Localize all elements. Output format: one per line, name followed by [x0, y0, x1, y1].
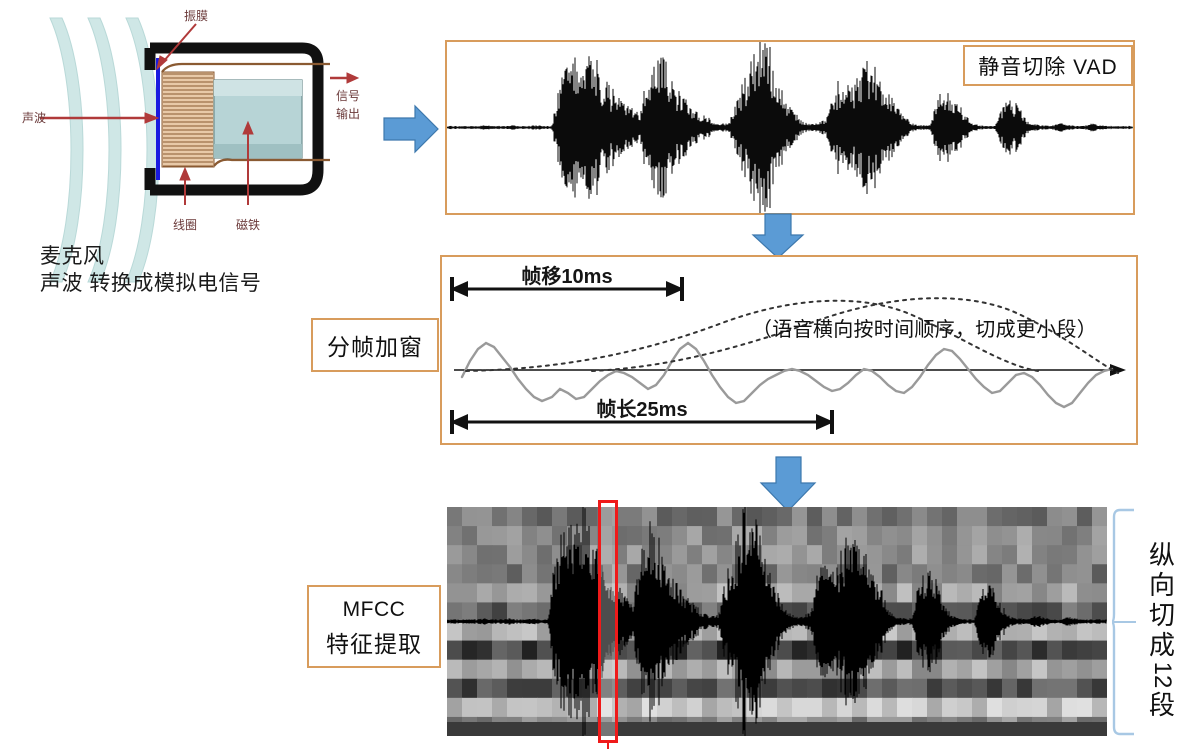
- spectrogram-cell: [447, 583, 463, 603]
- spectrogram-cell: [1002, 545, 1018, 565]
- label-coil: 线圈: [173, 218, 197, 232]
- spectrogram-cell: [672, 679, 688, 699]
- spectrogram-cell: [1032, 698, 1048, 718]
- spectrogram-cell: [447, 507, 463, 527]
- spectrogram-cell: [792, 679, 808, 699]
- spectrogram-bottom-strip: [447, 722, 1107, 736]
- spectrogram-cell: [522, 622, 538, 642]
- spectrogram-cell: [1092, 641, 1107, 661]
- spectrogram-cell: [867, 698, 883, 718]
- spectrogram-cell: [522, 660, 538, 680]
- spectrogram-cell: [852, 698, 868, 718]
- spectrogram-cell: [1002, 698, 1018, 718]
- spectrogram-cell: [942, 564, 958, 584]
- spectrogram-cell: [882, 545, 898, 565]
- spectrogram-cell: [582, 507, 598, 527]
- spectrogram-cell: [702, 507, 718, 527]
- spectrogram-cell: [1062, 545, 1078, 565]
- spectrogram-cell: [1062, 641, 1078, 661]
- spectrogram-cell: [462, 545, 478, 565]
- spectrogram-cell: [492, 679, 508, 699]
- spectrogram-cell: [672, 564, 688, 584]
- spectrogram-cell: [627, 679, 643, 699]
- spectrogram-cell: [1047, 698, 1063, 718]
- spectrogram-cell: [777, 660, 793, 680]
- label-diaphragm: 振膜: [184, 9, 208, 23]
- spectrogram-cell: [702, 679, 718, 699]
- spectrogram-cell: [987, 526, 1003, 546]
- spectrogram-cell: [627, 698, 643, 718]
- spectrogram-cell: [1077, 583, 1093, 603]
- spectrogram-cell: [882, 526, 898, 546]
- spectrogram-cell: [822, 698, 838, 718]
- spectrogram-cell: [687, 641, 703, 661]
- spectrogram-cell: [1077, 545, 1093, 565]
- spectrogram-cell: [1032, 545, 1048, 565]
- spectrogram-cell: [867, 679, 883, 699]
- spectrogram-cell: [792, 507, 808, 527]
- spectrogram-cell: [447, 679, 463, 699]
- spectrogram-cell: [1017, 660, 1033, 680]
- spectrogram-cell: [537, 545, 553, 565]
- spectrogram-cell: [792, 641, 808, 661]
- spectrogram-cell: [567, 507, 583, 527]
- spectrogram-cell: [552, 526, 568, 546]
- spectrogram-cell: [792, 545, 808, 565]
- spectrogram-cell: [1077, 698, 1093, 718]
- spectrogram-cell: [882, 564, 898, 584]
- spectrogram-cell: [492, 660, 508, 680]
- spectrogram-cell: [507, 698, 523, 718]
- spectrogram-cell: [1002, 679, 1018, 699]
- spectrogram-cell: [1047, 602, 1063, 622]
- spectrogram-cell: [627, 545, 643, 565]
- spectrogram-cell: [912, 679, 928, 699]
- spectrogram-cell: [912, 526, 928, 546]
- spectrogram-cell: [1002, 660, 1018, 680]
- spectrogram-cell: [972, 660, 988, 680]
- spectrogram-cell: [507, 641, 523, 661]
- framing-illustration: 帧移10ms 帧长25ms: [442, 257, 1136, 443]
- mfcc-tag-line1: MFCC: [343, 593, 406, 627]
- vert-char-0: 纵: [1137, 540, 1187, 570]
- spectrogram-cell: [1047, 545, 1063, 565]
- spectrogram-cell: [702, 545, 718, 565]
- spectrogram-cell: [1047, 526, 1063, 546]
- spectrogram-cell: [822, 545, 838, 565]
- spectrogram-cell: [1002, 641, 1018, 661]
- spectrogram-cell: [687, 545, 703, 565]
- spectrogram-cell: [792, 660, 808, 680]
- spectrogram-cell: [1077, 622, 1093, 642]
- spectrogram-cell: [807, 507, 823, 527]
- spectrogram-cell: [717, 526, 733, 546]
- spectrogram-cell: [717, 564, 733, 584]
- spectrogram-cell: [447, 526, 463, 546]
- spectrogram-cell: [837, 526, 853, 546]
- spectrogram-cell: [942, 641, 958, 661]
- spectrogram-cell: [522, 583, 538, 603]
- spectrogram-cell: [537, 583, 553, 603]
- spectrogram-cell: [1092, 698, 1107, 718]
- spectrogram-cell: [957, 660, 973, 680]
- arrow-mic-to-vad: [382, 100, 442, 160]
- spectrogram-cell: [897, 641, 913, 661]
- spectrogram-cell: [852, 507, 868, 527]
- spectrogram-cell: [777, 679, 793, 699]
- spectrogram-cell: [972, 526, 988, 546]
- spectrogram-cell: [1062, 660, 1078, 680]
- spectrogram-cell: [957, 641, 973, 661]
- mic-caption-line2: 声波 转换成模拟电信号: [40, 270, 370, 297]
- spectrogram-cell: [957, 583, 973, 603]
- spectrogram-cell: [1092, 679, 1107, 699]
- spectrogram-cell: [897, 507, 913, 527]
- spectrogram-cell: [867, 507, 883, 527]
- spectrogram-cell: [462, 602, 478, 622]
- spectrogram-cell: [537, 507, 553, 527]
- spectrogram-cell: [777, 507, 793, 527]
- spectrogram-cell: [1002, 507, 1018, 527]
- spectrogram-cell: [462, 641, 478, 661]
- spectrogram-cell: [702, 583, 718, 603]
- spectrogram-cell: [927, 679, 943, 699]
- spectrogram-cell: [1047, 660, 1063, 680]
- spectrogram-cell: [1047, 622, 1063, 642]
- spectrogram-cell: [462, 526, 478, 546]
- spectrogram-cell: [1092, 583, 1107, 603]
- spectrogram-cell: [462, 679, 478, 699]
- spectrogram-cell: [447, 660, 463, 680]
- spectrogram-cell: [1092, 526, 1107, 546]
- microphone-caption: 麦克风 声波 转换成模拟电信号: [40, 243, 370, 297]
- spectrogram-cell: [1017, 679, 1033, 699]
- spectrogram-cell: [912, 545, 928, 565]
- spectrogram-cell: [1077, 660, 1093, 680]
- mfcc-vertical-label: 纵 向 切 成 12 段: [1137, 540, 1187, 720]
- spectrogram-cell: [1077, 526, 1093, 546]
- spectrogram-cell: [942, 545, 958, 565]
- spectrogram-cell: [777, 564, 793, 584]
- spectrogram-cell: [1092, 507, 1107, 527]
- spectrogram-cell: [747, 507, 763, 527]
- spectrogram-cell: [897, 583, 913, 603]
- spectrogram-cell: [447, 622, 463, 642]
- spectrogram-cell: [582, 698, 598, 718]
- spectrogram-cell: [882, 660, 898, 680]
- spectrogram-cell: [882, 698, 898, 718]
- spectrogram-cell: [972, 679, 988, 699]
- label-sound-wave: 声波: [22, 111, 46, 125]
- spectrogram-cell: [867, 526, 883, 546]
- spectrogram-cell: [507, 526, 523, 546]
- spectrogram-cell: [717, 507, 733, 527]
- spectrogram-cell: [972, 545, 988, 565]
- spectrogram-cell: [657, 507, 673, 527]
- spectrogram-cell: [447, 698, 463, 718]
- spectrogram-cell: [477, 564, 493, 584]
- spectrogram-cell: [687, 660, 703, 680]
- spectrogram-cell: [927, 698, 943, 718]
- spectrogram-cell: [477, 526, 493, 546]
- spectrogram-cell: [1092, 602, 1107, 622]
- spectrogram-cell: [1092, 545, 1107, 565]
- spectrogram-cell: [447, 602, 463, 622]
- spectrogram-cell: [897, 545, 913, 565]
- spectrogram-cell: [1077, 507, 1093, 527]
- spectrogram-cell: [522, 679, 538, 699]
- spectrogram-cell: [462, 622, 478, 642]
- spectrogram-cell: [957, 622, 973, 642]
- spectrogram-cell: [1017, 641, 1033, 661]
- spectrogram-cell: [1047, 507, 1063, 527]
- spectrogram-cell: [552, 507, 568, 527]
- spectrogram-cell: [822, 507, 838, 527]
- spectrogram-cell: [492, 545, 508, 565]
- vad-tag-label: 静音切除 VAD: [978, 51, 1117, 81]
- mfcc-tag-line2: 特征提取: [326, 627, 422, 661]
- spectrogram-cell: [1017, 545, 1033, 565]
- frame-length-label: 帧长25ms: [596, 397, 687, 421]
- spectrogram-cell: [1032, 641, 1048, 661]
- spectrogram-cell: [507, 679, 523, 699]
- spectrogram-cell: [942, 583, 958, 603]
- spectrogram-cell: [1032, 564, 1048, 584]
- spectrogram-cell: [822, 679, 838, 699]
- spectrogram-cell: [672, 545, 688, 565]
- spectrogram-cell: [897, 679, 913, 699]
- spectrogram-cell: [1017, 507, 1033, 527]
- spectrogram-cell: [1017, 583, 1033, 603]
- spectrogram-cell: [882, 641, 898, 661]
- spectrogram-cell: [537, 564, 553, 584]
- spectrogram-cell: [792, 526, 808, 546]
- spectrogram-cell: [987, 679, 1003, 699]
- spectrogram-cell: [477, 545, 493, 565]
- spectrogram-cell: [702, 660, 718, 680]
- spectrogram-cell: [717, 679, 733, 699]
- magnet-group: [214, 80, 302, 158]
- spectrogram-cell: [987, 507, 1003, 527]
- spectrogram-cell: [942, 507, 958, 527]
- framing-tag: 分帧加窗: [311, 318, 439, 372]
- coil-group: [162, 72, 214, 167]
- vert-char-4: 12: [1147, 650, 1177, 700]
- framing-note: （语音横向按时间顺序，切成更小段）: [752, 313, 1132, 342]
- spectrogram-cell: [702, 698, 718, 718]
- spectrogram-cell: [477, 507, 493, 527]
- spectrogram-cell: [1077, 602, 1093, 622]
- spectrogram-cell: [462, 564, 478, 584]
- spectrogram-cell: [987, 660, 1003, 680]
- spectrogram-cell: [462, 583, 478, 603]
- spectrogram-cell: [837, 698, 853, 718]
- spectrogram-cell: [522, 698, 538, 718]
- spectrogram-cell: [492, 526, 508, 546]
- spectrogram-cell: [897, 660, 913, 680]
- spectrogram-cell: [522, 545, 538, 565]
- spectrogram-cell: [882, 583, 898, 603]
- spectrogram-cell: [762, 526, 778, 546]
- spectrogram-cell: [507, 507, 523, 527]
- spectrogram-cell: [1062, 526, 1078, 546]
- spectrogram-cell: [957, 545, 973, 565]
- spectrogram-cell: [1002, 583, 1018, 603]
- spectrogram-cell: [687, 526, 703, 546]
- spectrogram-cell: [477, 583, 493, 603]
- spectrogram-cell: [462, 660, 478, 680]
- mfcc-tag: MFCC 特征提取: [307, 585, 441, 668]
- spectrogram-cell: [1047, 583, 1063, 603]
- spectrogram-cell: [987, 564, 1003, 584]
- spectrogram-cell: [462, 698, 478, 718]
- spectrogram-cell: [777, 526, 793, 546]
- spectrogram-cell: [837, 507, 853, 527]
- arrow-framing-to-mfcc: [757, 455, 819, 513]
- spectrogram-cell: [507, 545, 523, 565]
- spectrogram-cell: [492, 564, 508, 584]
- spectrogram-cell: [627, 526, 643, 546]
- spectrogram-cell: [1002, 564, 1018, 584]
- spectrogram-cell: [702, 526, 718, 546]
- spectrogram-cell: [912, 507, 928, 527]
- spectrogram-cell: [912, 698, 928, 718]
- spectrogram-cell: [507, 583, 523, 603]
- frame-highlight-tick: [607, 743, 609, 749]
- spectrogram-cell: [1002, 526, 1018, 546]
- spectrogram-cell: [507, 564, 523, 584]
- spectrogram-cell: [687, 564, 703, 584]
- spectrogram-cell: [687, 583, 703, 603]
- spectrogram-cell: [537, 660, 553, 680]
- spectrogram-cell: [1032, 660, 1048, 680]
- spectrogram-cell: [522, 564, 538, 584]
- spectrogram-cell: [522, 641, 538, 661]
- spectrogram-cell: [537, 526, 553, 546]
- spectrogram-cell: [807, 526, 823, 546]
- spectrogram-cell: [462, 507, 478, 527]
- spectrogram-cell: [492, 622, 508, 642]
- label-signal-output-2: 输出: [336, 106, 360, 121]
- spectrogram-cell: [522, 526, 538, 546]
- spectrogram-cell: [672, 660, 688, 680]
- spectrogram-cell: [852, 526, 868, 546]
- spectrogram-cell: [897, 698, 913, 718]
- spectrogram-cell: [627, 507, 643, 527]
- spectrogram-cell: [1017, 526, 1033, 546]
- spectrogram-cell: [1092, 622, 1107, 642]
- spectrogram-cell: [1047, 564, 1063, 584]
- spectrogram-cell: [882, 507, 898, 527]
- spectrogram-cell: [477, 698, 493, 718]
- spectrogram-cell: [1047, 679, 1063, 699]
- vert-char-2: 切: [1137, 600, 1187, 630]
- spectrogram-cell: [1047, 641, 1063, 661]
- spectrogram-cell: [807, 679, 823, 699]
- spectrogram-cell: [897, 526, 913, 546]
- mic-caption-line1: 麦克风: [40, 243, 370, 270]
- framing-tag-label: 分帧加窗: [327, 328, 423, 362]
- spectrogram-cell: [897, 564, 913, 584]
- spectrogram-cell: [762, 545, 778, 565]
- spectrogram-cell: [792, 698, 808, 718]
- spectrogram-cell: [1077, 564, 1093, 584]
- spectrogram-cell: [972, 507, 988, 527]
- mfcc-spectrogram: [447, 507, 1107, 736]
- spectrogram-cell: [1062, 564, 1078, 584]
- label-signal-output-1: 信号: [336, 89, 360, 103]
- spectrogram-cell: [1062, 583, 1078, 603]
- spectrogram-cell: [477, 679, 493, 699]
- spectrogram-cell: [777, 545, 793, 565]
- spectrogram-cell: [972, 698, 988, 718]
- spectrogram-cell: [762, 698, 778, 718]
- spectrogram-cell: [912, 564, 928, 584]
- spectrogram-cell: [507, 660, 523, 680]
- spectrogram-cell: [672, 526, 688, 546]
- spectrogram-cell: [702, 564, 718, 584]
- spectrogram-cell: [972, 564, 988, 584]
- spectrogram-cell: [927, 507, 943, 527]
- spectrogram-cell: [1062, 698, 1078, 718]
- spectrogram-cell: [957, 679, 973, 699]
- spectrogram-cell: [807, 545, 823, 565]
- spectrogram-cell: [987, 698, 1003, 718]
- spectrogram-cell: [957, 698, 973, 718]
- spectrogram-cell: [537, 698, 553, 718]
- spectrogram-cell: [447, 564, 463, 584]
- spectrogram-cell: [477, 660, 493, 680]
- spectrogram-cell: [552, 698, 568, 718]
- spectrogram-cell: [717, 698, 733, 718]
- spectrogram-cell: [672, 698, 688, 718]
- spectrogram-cell: [957, 526, 973, 546]
- vad-tag: 静音切除 VAD: [963, 45, 1133, 86]
- frame-highlight-box: [598, 500, 618, 743]
- spectrogram-cell: [687, 507, 703, 527]
- spectrogram-cell: [1032, 583, 1048, 603]
- spectrogram-cell: [927, 545, 943, 565]
- spectrogram-cell: [1017, 564, 1033, 584]
- spectrogram-cell: [537, 641, 553, 661]
- spectrogram-cell: [942, 698, 958, 718]
- spectrogram-cell: [1032, 679, 1048, 699]
- spectrogram-cell: [792, 583, 808, 603]
- spectrogram-cell: [1077, 679, 1093, 699]
- spectrogram-cell: [867, 545, 883, 565]
- spectrogram-cell: [492, 583, 508, 603]
- spectrogram-cell: [942, 526, 958, 546]
- spectrogram-cell: [882, 679, 898, 699]
- spectrogram-cell: [672, 507, 688, 527]
- spectrogram-cell: [912, 660, 928, 680]
- spectrogram-cell: [447, 545, 463, 565]
- spectrogram-cell: [537, 679, 553, 699]
- spectrogram-cell: [447, 641, 463, 661]
- spectrogram-cell: [702, 641, 718, 661]
- spectrogram-cell: [1092, 660, 1107, 680]
- spectrogram-cell: [762, 679, 778, 699]
- spectrogram-cell: [987, 545, 1003, 565]
- spectrogram-cell: [807, 698, 823, 718]
- label-magnet: 磁铁: [236, 217, 260, 232]
- spectrogram-cell: [927, 526, 943, 546]
- spectrogram-cell: [1032, 507, 1048, 527]
- spectrogram-cell: [1092, 564, 1107, 584]
- arrow-vad-to-framing: [748, 212, 808, 260]
- spectrogram-cell: [492, 507, 508, 527]
- spectrogram-cell: [1017, 698, 1033, 718]
